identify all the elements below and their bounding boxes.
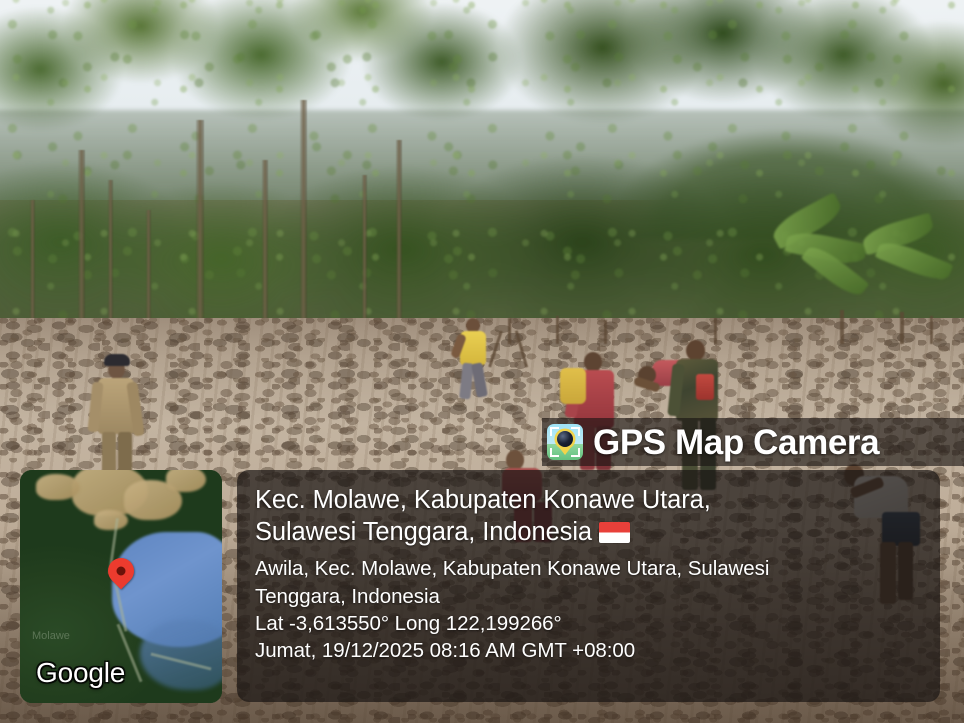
logo-bracket-top-left bbox=[550, 427, 559, 436]
map-cleared-area bbox=[36, 474, 80, 500]
app-title-bar: GPS Map Camera bbox=[542, 418, 964, 466]
person-leg bbox=[471, 362, 488, 397]
tree-trunk bbox=[300, 100, 307, 348]
logo-bracket-bottom-left bbox=[550, 448, 559, 457]
gps-map-camera-photo: GPS Map Camera Kec. Molawe, Kabupaten Ko… bbox=[0, 0, 964, 723]
address-line-2: Tenggara, Indonesia bbox=[255, 585, 440, 608]
gps-coordinates: Lat -3,613550° Long 122,199266° bbox=[255, 610, 922, 637]
fence-post bbox=[900, 312, 904, 344]
person-head bbox=[506, 450, 524, 470]
location-info-panel: Kec. Molawe, Kabupaten Konawe Utara, Sul… bbox=[237, 470, 940, 702]
map-thumbnail[interactable]: Molawe Google bbox=[20, 470, 222, 703]
address-line-1: Awila, Kec. Molawe, Kabupaten Konawe Uta… bbox=[255, 557, 769, 580]
person-vest bbox=[696, 374, 714, 400]
tree-trunk bbox=[196, 120, 204, 345]
foliage-texture bbox=[0, 0, 964, 350]
logo-bracket-top-right bbox=[571, 427, 580, 436]
person-head bbox=[686, 340, 705, 361]
app-title: GPS Map Camera bbox=[593, 425, 879, 460]
fence-post bbox=[556, 316, 559, 344]
map-cleared-area bbox=[94, 510, 128, 530]
full-address: Awila, Kec. Molawe, Kabupaten Konawe Uta… bbox=[255, 555, 922, 610]
indonesia-flag-icon bbox=[599, 522, 630, 543]
tree-trunk bbox=[396, 140, 402, 345]
capture-timestamp: Jumat, 19/12/2025 08:16 AM GMT +08:00 bbox=[255, 637, 922, 664]
yellow-sack bbox=[560, 368, 586, 404]
fence-post bbox=[930, 316, 933, 344]
fence-post bbox=[840, 310, 844, 344]
fence-post bbox=[508, 318, 511, 344]
person-head bbox=[584, 352, 602, 372]
gps-camera-logo-icon bbox=[547, 424, 583, 460]
logo-bracket-bottom-right bbox=[571, 448, 580, 457]
map-place-label: Molawe bbox=[32, 630, 70, 642]
person-yellow-shirt bbox=[452, 318, 496, 400]
location-headline: Kec. Molawe, Kabupaten Konawe Utara, Sul… bbox=[255, 484, 922, 548]
fence-post bbox=[604, 320, 607, 344]
headline-line-2: Sulawesi Tenggara, Indonesia bbox=[255, 518, 592, 546]
person-cap bbox=[104, 354, 130, 366]
sack-body bbox=[560, 368, 586, 404]
google-watermark: Google bbox=[36, 657, 125, 689]
headline-line-1: Kec. Molawe, Kabupaten Konawe Utara, bbox=[255, 486, 711, 514]
